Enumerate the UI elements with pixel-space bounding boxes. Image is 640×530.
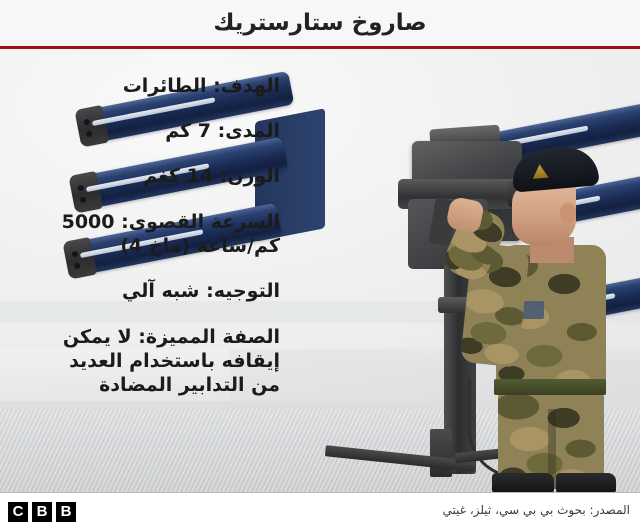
fact-target: الهدف: الطائرات <box>12 75 280 98</box>
bbc-logo-letter-1: B <box>56 502 76 522</box>
soldier-boot-right <box>556 473 616 492</box>
beret-badge-icon <box>532 164 549 179</box>
fact-guidance: التوجيه: شبه آلي <box>12 280 280 303</box>
fact-list: الهدف: الطائرات المدى: 7 كم الوزن: 14 كغ… <box>12 75 280 419</box>
source-credit: المصدر: بحوث بي بي سي، ثيلز، غيتي <box>443 503 631 517</box>
soldier-ear <box>560 203 576 223</box>
footer: B B C المصدر: بحوث بي بي سي، ثيلز، غيتي <box>0 492 640 530</box>
bbc-logo-letter-3: C <box>8 502 28 522</box>
bbc-logo: B B C <box>8 502 76 522</box>
fact-key-feature: الصفة المميزة: لا يمكن إيقافه باستخدام ا… <box>12 325 280 397</box>
soldier-belt <box>494 379 606 395</box>
page-title: صاروخ ستارستريك <box>0 6 640 40</box>
fact-max-speed: السرعة القصوى: 5000 كم/ساعة (ماخ 4) <box>12 210 280 258</box>
fact-range: المدى: 7 كم <box>12 120 280 143</box>
soldier-boot-left <box>492 473 554 492</box>
tripod-leg-center <box>430 429 452 477</box>
fact-weight: الوزن: 14 كغم <box>12 165 280 188</box>
header: صاروخ ستارستريك <box>0 0 640 48</box>
bbc-logo-letter-2: B <box>32 502 52 522</box>
infographic-root: صاروخ ستارستريك <box>0 0 640 530</box>
photo-stage: الهدف: الطائرات المدى: 7 كم الوزن: 14 كغ… <box>0 49 640 492</box>
